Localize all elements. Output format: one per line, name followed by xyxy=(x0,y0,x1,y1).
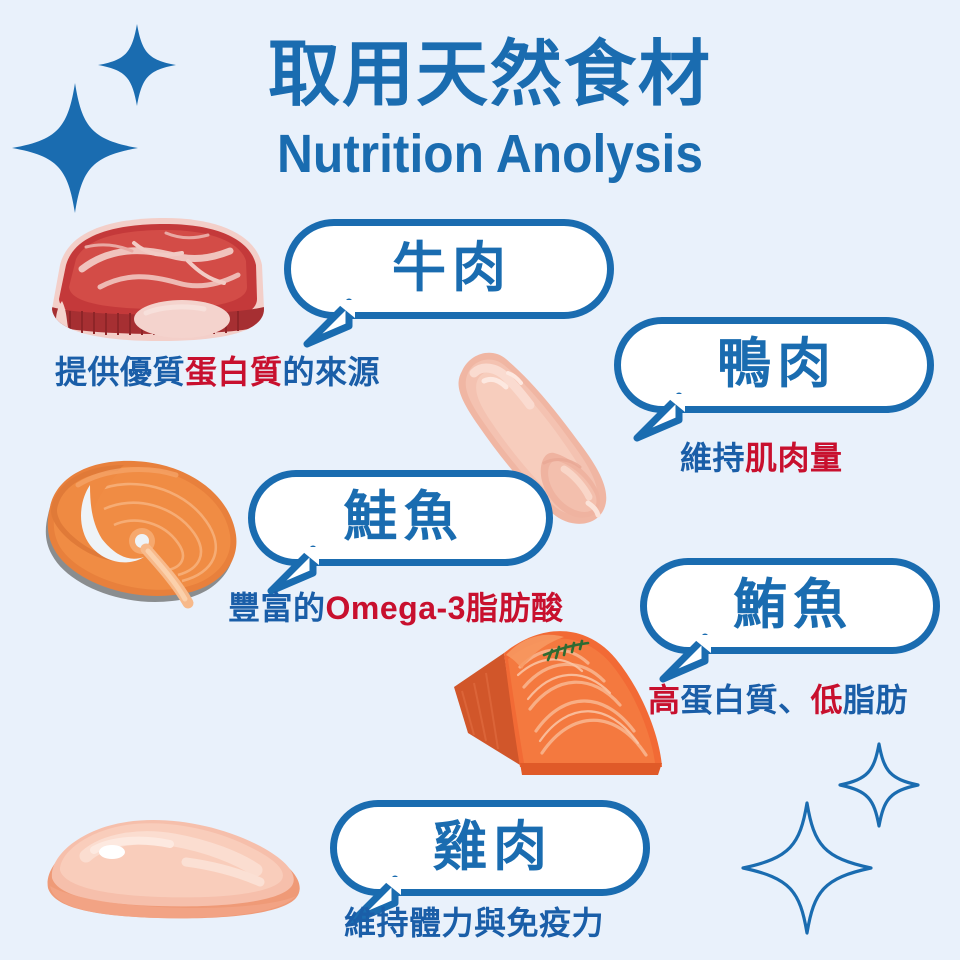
bubble-beef[interactable]: 牛肉 xyxy=(284,219,614,319)
caption-duck: 維持肌肉量 xyxy=(680,438,843,478)
chicken-breast-illustration xyxy=(38,812,310,924)
caption-beef-part2: 的來源 xyxy=(283,354,381,390)
page-title-zh: 取用天然食材 xyxy=(230,34,750,116)
page-title-en: Nutrition Anolysis xyxy=(223,124,757,184)
caption-beef-part0: 提供優質 xyxy=(55,354,185,390)
poster-root: 取用天然食材 Nutrition Anolysis xyxy=(0,0,960,960)
salmon-steak-illustration xyxy=(32,457,244,609)
caption-duck-part0: 維持 xyxy=(680,440,745,476)
bubble-label-salmon: 鮭魚 xyxy=(338,490,464,547)
caption-tuna: 高蛋白質、低脂肪 xyxy=(648,680,908,720)
bubble-tail-duck xyxy=(633,394,689,440)
caption-chicken-part0: 維持體力與免疫力 xyxy=(344,905,604,941)
bubble-salmon[interactable]: 鮭魚 xyxy=(248,470,553,566)
caption-beef-part1: 蛋白質 xyxy=(185,354,283,390)
caption-duck-part1: 肌肉量 xyxy=(745,440,843,476)
caption-chicken: 維持體力與免疫力 xyxy=(344,903,604,943)
bubble-tail-salmon xyxy=(267,547,323,593)
caption-tuna-part1: 蛋白質、 xyxy=(681,682,811,718)
bubble-duck[interactable]: 鴨肉 xyxy=(614,317,934,413)
bubble-label-duck: 鴨肉 xyxy=(711,337,837,394)
caption-tuna-part2: 低 xyxy=(811,682,844,718)
caption-beef: 提供優質蛋白質的來源 xyxy=(55,352,380,392)
header: 取用天然食材 Nutrition Anolysis xyxy=(0,0,960,210)
caption-tuna-part3: 脂肪 xyxy=(843,682,908,718)
bubble-chicken[interactable]: 雞肉 xyxy=(330,800,650,896)
sparkle-bottom-large-icon xyxy=(740,800,874,936)
caption-salmon-part0: 豐富的 xyxy=(228,590,326,626)
caption-tuna-part0: 高 xyxy=(648,682,681,718)
bubble-label-chicken: 雞肉 xyxy=(427,820,553,877)
beef-steak-illustration xyxy=(42,213,272,345)
bubble-tail-tuna xyxy=(659,635,715,681)
bubble-label-tuna: 鮪魚 xyxy=(727,578,853,635)
bubble-label-beef: 牛肉 xyxy=(386,241,512,298)
bubble-tuna[interactable]: 鮪魚 xyxy=(640,558,940,654)
bubble-tail-beef xyxy=(303,300,359,346)
